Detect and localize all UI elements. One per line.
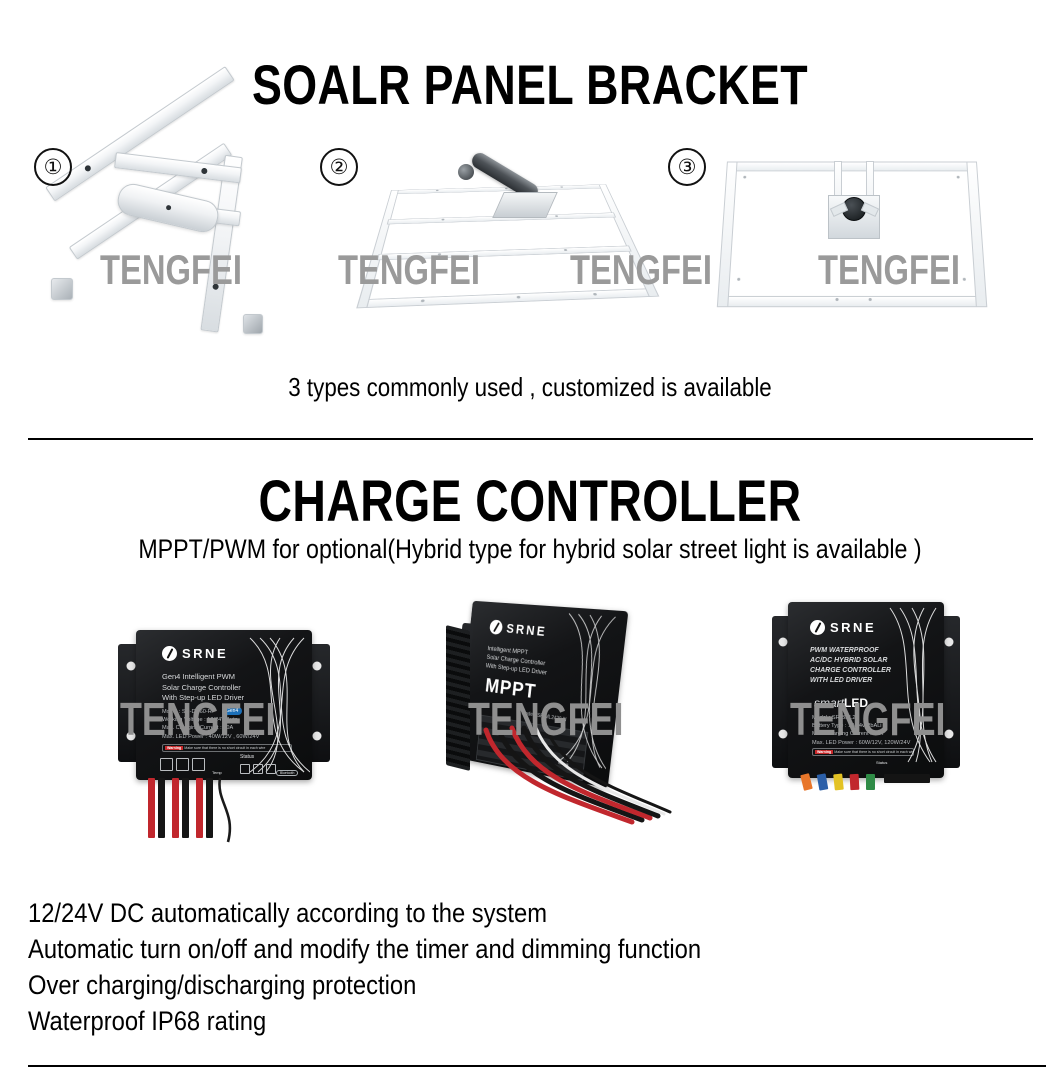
watermark-brand: TENGFEI	[790, 692, 945, 746]
warning-tag: Warning	[815, 750, 833, 754]
watermark-brand: TENGFEI	[818, 246, 960, 294]
bracket-number-1: ①	[34, 148, 72, 186]
status-led-icon	[240, 764, 250, 774]
bracket-number-3: ③	[668, 148, 706, 186]
wire-black	[158, 778, 165, 838]
connector-yellow	[833, 774, 844, 791]
brand-name: SRNE	[182, 646, 228, 661]
brand-name: SRNE	[506, 621, 548, 639]
warning-text: Make sure that there is no short circuit…	[834, 750, 914, 754]
connector-red	[850, 774, 860, 790]
srne-logo: SRNE	[810, 620, 876, 635]
warning-label: Warning Make sure that there is no short…	[812, 748, 914, 756]
controller-type-lines: PWM WATERPROOF AC/DC HYBRID SOLAR CHARGE…	[810, 646, 891, 686]
controller-type-lines: Intelligent MPPT Solar Charge Controller…	[485, 644, 549, 677]
bracket-number-2: ②	[320, 148, 358, 186]
feature-line: Automatic turn on/off and modify the tim…	[28, 934, 701, 965]
feature-line: Over charging/discharging protection	[28, 970, 416, 1001]
watermark-brand: TENGFEI	[338, 246, 480, 294]
section-divider-bottom	[28, 1065, 1046, 1067]
srne-logo: SRNE	[489, 619, 548, 639]
section-divider-top	[28, 438, 1033, 440]
terminal-icon-row	[160, 758, 208, 771]
status-label: Status	[876, 760, 887, 765]
bracket-image-side-mount	[55, 128, 300, 333]
srne-mark-icon	[162, 646, 177, 661]
bracket-caption: 3 types commonly used , customized is av…	[74, 372, 986, 403]
wire-red	[172, 778, 179, 838]
srne-logo: SRNE	[162, 646, 228, 661]
page-title-solar-panel-bracket: SOALR PANEL BRACKET	[106, 52, 954, 117]
status-label: Status	[240, 754, 254, 760]
watermark-brand: TENGFEI	[570, 246, 712, 294]
feature-line: 12/24V DC automatically according to the…	[28, 898, 547, 929]
battery-icon	[176, 758, 189, 771]
status-led-row	[240, 764, 279, 774]
brand-name: SRNE	[830, 620, 876, 635]
controller-body: SRNE PWM WATERPROOF AC/DC HYBRID SOLAR C…	[788, 602, 944, 778]
temp-label: Temp	[212, 770, 222, 775]
watermark-brand: TENGFEI	[120, 692, 275, 746]
status-led-icon	[266, 764, 276, 774]
wire-red	[196, 778, 203, 838]
warning-tag: Warning	[165, 746, 183, 750]
page-title-charge-controller: CHARGE CONTROLLER	[106, 468, 954, 535]
feature-line: Waterproof IP68 rating	[28, 1006, 266, 1037]
sensor-wire	[214, 778, 274, 848]
bracket-image-adjustable-frame	[370, 140, 635, 330]
remote-badge: Bluetooth	[276, 770, 298, 776]
connector-black	[884, 774, 930, 783]
wire-black	[182, 778, 189, 838]
load-icon	[192, 758, 205, 771]
wire-red	[148, 778, 155, 838]
charge-controller-subtitle: MPPT/PWM for optional(Hybrid type for hy…	[74, 534, 986, 565]
wire-black	[206, 778, 213, 838]
status-led-icon	[253, 764, 263, 774]
watermark-brand: TENGFEI	[100, 246, 242, 294]
srne-mark-icon	[489, 619, 503, 635]
warning-text: Make sure that there is no short circuit…	[184, 746, 265, 750]
solar-panel-icon	[160, 758, 173, 771]
watermark-brand: TENGFEI	[468, 692, 623, 746]
srne-mark-icon	[810, 620, 825, 635]
product-spec-page: SOALR PANEL BRACKET ① ② ③	[0, 0, 1060, 1078]
connector-green	[866, 774, 875, 790]
